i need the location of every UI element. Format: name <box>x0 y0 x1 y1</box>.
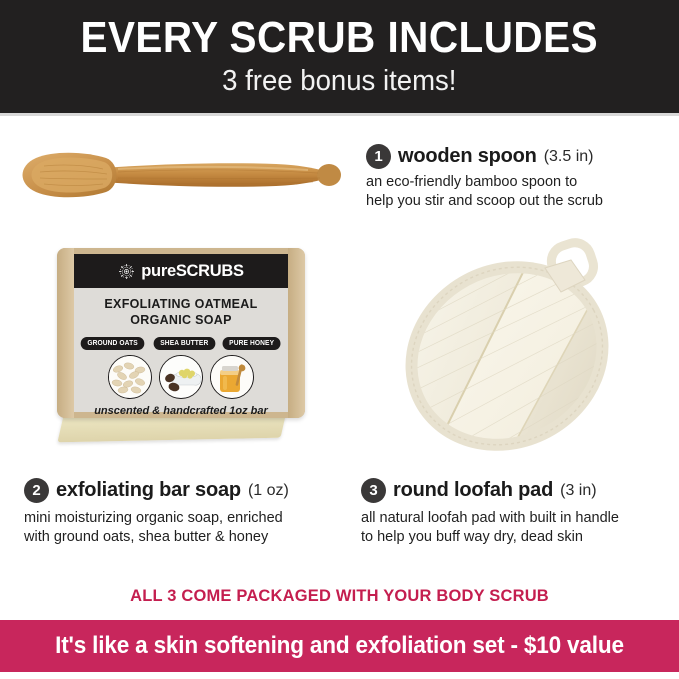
brand-name: pureSCRUBS <box>141 262 243 281</box>
item-1-qty: (3.5 in) <box>544 148 594 166</box>
ingredient-photo-row <box>74 355 288 399</box>
soap-box: pureSCRUBS EXFOLIATING OATMEAL ORGANIC S… <box>57 248 305 418</box>
item-3-heading: 3 round loofah pad (3 in) <box>361 478 619 503</box>
loofah-pad-photo <box>395 238 640 460</box>
brand-header: pureSCRUBS <box>74 254 288 288</box>
page-title: EVERY SCRUB INCLUDES <box>81 15 599 61</box>
item-3-qty: (3 in) <box>560 482 596 500</box>
item-2-heading: 2 exfoliating bar soap (1 oz) <box>24 478 289 503</box>
item-3-name: round loofah pad <box>393 479 553 502</box>
ingredient-badge: PURE HONEY <box>223 337 281 350</box>
mandala-logo-icon <box>118 263 135 280</box>
soap-label: pureSCRUBS EXFOLIATING OATMEAL ORGANIC S… <box>74 254 288 412</box>
pure-honey-photo <box>210 355 254 399</box>
item-1-heading: 1 wooden spoon (3.5 in) <box>366 144 603 169</box>
item-2-number-badge: 2 <box>24 478 49 503</box>
item-3-text-block: 3 round loofah pad (3 in) all natural lo… <box>361 478 619 548</box>
shea-butter-photo <box>159 355 203 399</box>
soap-footnote: unscented & handcrafted 1oz bar <box>74 405 288 417</box>
item-1-text-block: 1 wooden spoon (3.5 in) an eco-friendly … <box>366 144 603 212</box>
item-1-name: wooden spoon <box>398 145 537 168</box>
wooden-spoon-photo <box>8 142 348 208</box>
packaged-tagline: ALL 3 COME PACKAGED WITH YOUR BODY SCRUB <box>10 586 669 606</box>
box-kraft-right <box>288 248 305 418</box>
soap-product-title: EXFOLIATING OATMEAL ORGANIC SOAP <box>74 296 288 329</box>
ground-oats-photo <box>108 355 152 399</box>
header-banner: EVERY SCRUB INCLUDES 3 free bonus items! <box>0 0 679 113</box>
ingredient-badge: GROUND OATS <box>81 337 145 350</box>
item-3-number-badge: 3 <box>361 478 386 503</box>
ingredient-badge-row: GROUND OATS SHEA BUTTER PURE HONEY <box>74 337 288 350</box>
page-subtitle: 3 free bonus items! <box>222 65 456 98</box>
value-banner: It's like a skin softening and exfoliati… <box>0 620 679 672</box>
item-1-description: an eco-friendly bamboo spoon to help you… <box>366 173 603 212</box>
item-2-name: exfoliating bar soap <box>56 479 241 502</box>
box-kraft-left <box>57 248 74 418</box>
value-tagline: It's like a skin softening and exfoliati… <box>55 632 624 660</box>
infographic-page: EVERY SCRUB INCLUDES 3 free bonus items! <box>0 0 679 679</box>
item-1-number-badge: 1 <box>366 144 391 169</box>
item-3-description: all natural loofah pad with built in han… <box>361 509 619 548</box>
item-2-text-block: 2 exfoliating bar soap (1 oz) mini moist… <box>24 478 289 548</box>
item-2-description: mini moisturizing organic soap, enriched… <box>24 509 289 548</box>
item-2-qty: (1 oz) <box>248 482 289 500</box>
ingredient-badge: SHEA BUTTER <box>153 337 214 350</box>
soap-box-photo: pureSCRUBS EXFOLIATING OATMEAL ORGANIC S… <box>55 248 307 458</box>
header-divider <box>0 113 679 116</box>
